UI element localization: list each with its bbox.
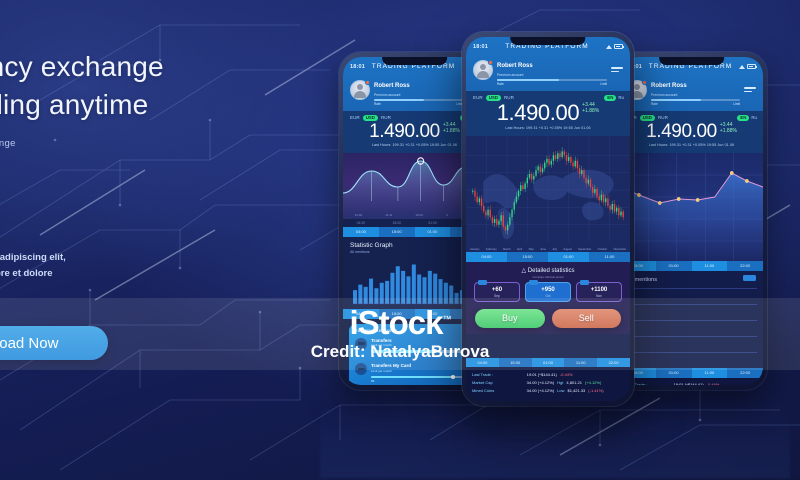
timeline-bar[interactable]: 04:00 15:00 01:00 11:00	[466, 252, 630, 262]
stat-cards: +60 Sep +950 Oct +1100 Nov	[466, 282, 630, 307]
user-row[interactable]: Robert Ross Premium account Rate Limit	[473, 54, 623, 86]
delta-pct: +1.88%	[443, 128, 460, 134]
stat-card[interactable]: +1100 Nov	[576, 282, 622, 302]
stat-card-tag	[478, 280, 487, 285]
timeline-seg-1[interactable]: 01:00	[656, 261, 692, 271]
status-icons	[606, 44, 623, 49]
timeline2-seg-1[interactable]: 15:00	[379, 309, 415, 319]
secondary-heading: I/UX	[0, 181, 238, 210]
user-bar-labels: Rate Limit	[651, 102, 740, 106]
sell-button[interactable]: Sell	[552, 309, 622, 328]
timeline-seg-2[interactable]: 01:00	[548, 252, 589, 262]
headline-subtext: ons for exchange	[0, 138, 238, 149]
user-row[interactable]: Robert Ross Premium account Rate Limit	[627, 74, 756, 106]
hamburger-menu-icon[interactable]	[611, 67, 623, 72]
row-key2: Hgt	[557, 380, 563, 385]
user-name: Robert Ross	[374, 83, 410, 89]
user-info: Robert Ross Premium account Rate Limit	[651, 74, 740, 106]
month-2: March	[503, 248, 510, 251]
price-delta: +3.44 +1.88%	[443, 122, 460, 134]
stat-card[interactable]: +950 Oct	[525, 282, 571, 302]
last-hours-text: Last Hours: 199.31 +0.31 +0.05% 19:55 Ju…	[627, 143, 756, 147]
price-row: 1.490.00 +3.44 +1.88%	[473, 102, 623, 124]
lang-other[interactable]: Ru	[618, 95, 624, 100]
timeline-seg-0[interactable]: 04:00	[466, 252, 507, 262]
list-item[interactable]	[626, 352, 757, 368]
payment-sub: Limit per month	[371, 369, 474, 373]
user-row[interactable]: Robert Ross Premium account Rate Limit	[350, 74, 479, 106]
axis-t1: 15:00	[392, 221, 401, 225]
lower-panel: All mentions	[620, 271, 763, 368]
payment-row[interactable]: Transfers Limit per month 70	[355, 338, 474, 358]
row-change2: (+4.12%)	[585, 380, 601, 385]
payment-name: Transfers My Card	[371, 363, 474, 368]
data-table: Last Trade : 19:01 (^$144.41) -0.44% Mar…	[466, 367, 630, 401]
payment-name: Transfers	[371, 338, 474, 343]
payment-sub: Limit per month	[371, 343, 474, 347]
stat-card-month: Nov	[579, 294, 619, 298]
avatar[interactable]	[350, 80, 370, 100]
month-6: July	[552, 248, 557, 251]
price-row: 1.490.00 +3.44 +1.88%	[350, 122, 479, 141]
stat-card-tag	[529, 280, 538, 285]
user-progress-bar	[374, 99, 463, 101]
headline-line-1: urrency exchange	[0, 48, 238, 86]
timeline-bar-bottom[interactable]: 04:00 15:00 01:00 11:00 22:00	[466, 358, 630, 368]
stat-card-month: Sep	[477, 294, 517, 298]
lorem-line-1: , consectetur adipiscing elit,	[0, 250, 168, 266]
row-value: 19:01 (^$144.41)	[674, 382, 704, 385]
stat-card-value: +1100	[579, 287, 619, 293]
transfer-icon	[355, 338, 367, 350]
phone-reflection	[320, 398, 790, 478]
headline-line-2: , trading anytime	[0, 86, 238, 124]
row-value: 34.00 (+4.12%)	[527, 380, 554, 385]
timeline2-seg-1[interactable]: 15:00	[499, 358, 532, 368]
currency-active[interactable]: USD	[363, 115, 378, 122]
stat-card-value: +60	[477, 287, 517, 293]
month-4: May	[529, 248, 534, 251]
list-item[interactable]	[626, 304, 757, 320]
table-row: Mined Coins 34.00 (+4.12%) Low $1,421.33…	[472, 387, 624, 395]
lang-active[interactable]: EN	[604, 95, 616, 102]
row-value2: 4,801.21	[566, 380, 582, 385]
status-time: 18:01	[473, 44, 488, 50]
data-table: Last Trade : 19:01 (^$144.41) -0.44% Mar…	[620, 378, 763, 385]
axis-t0: 04:00	[357, 221, 366, 225]
axis-t2: 01:00	[428, 221, 437, 225]
transfer-card-icon	[355, 363, 367, 375]
candle-month-labels: January February March April May June Ju…	[466, 248, 630, 251]
month-3: April	[517, 248, 522, 251]
list-item[interactable]	[626, 320, 757, 336]
timeline-bar-bottom[interactable]: 15:00 01:00 11:00 22:00	[620, 368, 763, 378]
user-bar-labels: Rate Limit	[497, 82, 607, 86]
wifi-icon	[606, 45, 612, 49]
phone-center: 18:01 TRADING PLATFORM Robert Ross	[462, 32, 634, 406]
hamburger-menu-icon[interactable]	[744, 87, 756, 92]
payment-slider[interactable]	[371, 350, 474, 352]
timeline-seg-2[interactable]: 01:00	[415, 227, 451, 237]
notch	[382, 57, 448, 65]
timeline-bar[interactable]: 15:00 01:00 11:00 22:00	[620, 261, 763, 271]
currency-to[interactable]: RUR	[658, 115, 668, 120]
user-bar-left-label: Rate	[651, 102, 658, 106]
timeline-seg-3[interactable]: 11:00	[589, 252, 630, 262]
timeline-seg-3[interactable]: 22:00	[727, 261, 763, 271]
payment-value: 70	[371, 354, 474, 358]
timeline-seg-1[interactable]: 15:00	[507, 252, 548, 262]
banner-stage: urrency exchange , trading anytime ons f…	[0, 0, 800, 480]
trend-chart[interactable]	[620, 153, 763, 261]
detailed-statistics-sub: Compare with last period	[466, 275, 630, 279]
trade-actions: Buy Sell	[466, 307, 630, 334]
row-key: Mined Coins	[472, 388, 524, 393]
month-10: November	[614, 248, 626, 251]
user-bar-left-label: Rate	[374, 102, 381, 106]
last-hours-text: Last Hours: 199.31 +0.31 +0.05% 19:55 Ju…	[473, 126, 623, 130]
lang-other[interactable]: Ru	[751, 115, 757, 120]
list-item[interactable]	[626, 336, 757, 352]
language-selector[interactable]: EN Ru	[737, 115, 757, 122]
month-9: October	[598, 248, 608, 251]
app-header: 18:01 TRADING PLATFORM Robert Ross	[466, 37, 630, 91]
row-key: Market Cap	[472, 380, 524, 385]
table-row: Last Trade : 19:01 (^$144.41) -0.44%	[472, 370, 624, 378]
row-change2: (-1.41%)	[588, 388, 603, 393]
secondary-heading-sub: Mobile App	[0, 212, 238, 224]
user-bar-right-label: Limit	[733, 102, 740, 106]
detailed-title-label: Detailed statistics	[528, 268, 575, 274]
avatar[interactable]	[473, 60, 493, 80]
timeline2-seg-1[interactable]: 01:00	[656, 368, 692, 378]
table-row: Market Cap 34.00 (+4.12%) Hgt 4,801.21 (…	[472, 379, 624, 387]
user-meta: Premium account	[497, 73, 607, 77]
month-8: September	[578, 248, 591, 251]
price-delta: +3.44 +1.88%	[720, 122, 737, 134]
currency-from[interactable]: EUR	[350, 115, 360, 120]
user-name: Robert Ross	[651, 83, 687, 89]
user-bar-labels: Rate Limit	[374, 102, 463, 106]
wifi-icon	[739, 65, 745, 69]
detailed-statistics-title[interactable]: △ Detailed statistics Compare with last …	[466, 262, 630, 282]
price-block: EUR USD RUR EN Ru 1.490.00 +3.44 +1.88%	[620, 111, 763, 154]
month-5: June	[540, 248, 546, 251]
timeline2-seg-3[interactable]: 11:00	[564, 358, 597, 368]
app-header: 18:01 TRADING PLATFORM Robert Ross	[620, 57, 763, 111]
timeline2-seg-2[interactable]: 01:00	[532, 358, 565, 368]
notch	[510, 37, 585, 45]
price-value: 1.490.00	[497, 102, 579, 124]
lorem-line-2: didunt ut labore et dolore	[0, 266, 168, 282]
payment-settings-card: PAYMENT SETTINGS Transfers Limit per mon…	[349, 324, 480, 385]
phone-center-bezel: 18:01 TRADING PLATFORM Robert Ross	[466, 37, 630, 401]
phone-right-screen: 18:01 TRADING PLATFORM Robert Ross	[620, 57, 763, 385]
row-key: Last Trade :	[472, 372, 524, 377]
wave-marker-0: 12:02	[355, 213, 363, 217]
price-row: 1.490.00 +3.44 +1.88%	[627, 122, 756, 141]
status-icons	[739, 64, 756, 69]
timeline2-seg-2[interactable]: 01:00	[415, 309, 451, 319]
payment-caption: PAYMENT SETTINGS	[355, 329, 474, 333]
delta-pct: +1.88%	[582, 108, 599, 114]
row-change: -0.44%	[707, 382, 720, 385]
row-value: 19:01 (^$144.41)	[527, 372, 557, 377]
table-row: Last Trade : 19:01 (^$144.41) -0.44%	[626, 381, 757, 385]
notification-dot	[488, 60, 493, 65]
user-progress-bar	[651, 99, 740, 101]
panel-toggle[interactable]	[743, 275, 756, 281]
month-0: January	[470, 248, 480, 251]
timeline-seg-2[interactable]: 11:00	[692, 261, 728, 271]
user-info: Robert Ross Premium account Rate Limit	[497, 54, 607, 86]
expand-caret-icon[interactable]: △	[522, 268, 527, 274]
wave-marker-1: 11:11	[385, 213, 392, 217]
timeline2-seg-2[interactable]: 11:00	[692, 368, 728, 378]
stat-card-tag	[580, 280, 589, 285]
timeline-seg-0[interactable]: 04:00	[343, 227, 379, 237]
stat-card-month: Oct	[528, 294, 568, 298]
price-delta: +3.44 +1.88%	[582, 102, 599, 114]
spacer-panel	[466, 334, 630, 358]
wave-marker-2: 16:02	[416, 213, 424, 217]
language-selector[interactable]: EN Ru	[604, 95, 624, 102]
currency-to[interactable]: RUR	[381, 115, 391, 120]
stat-card[interactable]: +60 Sep	[474, 282, 520, 302]
user-info: Robert Ross Premium account Rate Limit	[374, 74, 463, 106]
last-hours-text: Last Hours: 199.31 +0.31 +0.05% 19:55 Ju…	[350, 143, 479, 147]
battery-icon	[614, 44, 623, 49]
delta-pct: +1.88%	[720, 128, 737, 134]
row-value2: $1,421.33	[567, 388, 585, 393]
timeline2-seg-4[interactable]: 22:00	[597, 358, 630, 368]
notification-dot	[365, 80, 370, 85]
battery-icon	[747, 64, 756, 69]
user-name: Robert Ross	[497, 63, 533, 69]
download-now-button[interactable]: nload Now	[0, 326, 108, 360]
lang-active[interactable]: EN	[737, 115, 749, 122]
timeline2-seg-3[interactable]: 22:00	[727, 368, 763, 378]
currency-active[interactable]: USD	[640, 115, 655, 122]
payment-slider[interactable]	[371, 376, 474, 378]
month-1: February	[486, 248, 497, 251]
user-bar-left-label: Rate	[497, 82, 504, 86]
notch	[659, 57, 725, 65]
row-value: 34.00 (+4.12%)	[527, 388, 554, 393]
list-item[interactable]	[626, 288, 757, 304]
timeline2-seg-0[interactable]: 04:00	[466, 358, 499, 368]
month-7: August	[563, 248, 571, 251]
candlestick-chart[interactable]: January February March April May June Ju…	[466, 136, 630, 252]
user-bar-right-label: Limit	[600, 82, 607, 86]
timeline2-seg-0[interactable]: 04:00	[343, 309, 379, 319]
user-meta: Premium account	[651, 93, 740, 97]
wave-marker-3: 0	[446, 213, 448, 217]
user-meta: Premium account	[374, 93, 463, 97]
marketing-copy: urrency exchange , trading anytime ons f…	[0, 48, 238, 282]
payment-value: 82	[371, 379, 474, 383]
row-key2: Low	[557, 388, 564, 393]
phone-right: 18:01 TRADING PLATFORM Robert Ross	[616, 52, 767, 390]
price-value: 1.490.00	[369, 122, 440, 141]
lower-panel-title: All mentions	[620, 277, 763, 288]
payment-row[interactable]: Transfers My Card Limit per month 82	[355, 363, 474, 383]
price-block: EUR USD RUR EN Ru 1.490.00 +3.44 +1.88%	[466, 91, 630, 137]
price-value: 1.490.00	[646, 122, 717, 141]
user-progress-bar	[497, 79, 607, 81]
row-change: -0.44%	[560, 372, 573, 377]
phone-center-screen: 18:01 TRADING PLATFORM Robert Ross	[466, 37, 630, 401]
phone-right-bezel: 18:01 TRADING PLATFORM Robert Ross	[620, 57, 763, 385]
stat-card-value: +950	[528, 287, 568, 293]
buy-button[interactable]: Buy	[475, 309, 545, 328]
status-time: 18:01	[350, 64, 365, 70]
timeline-seg-1[interactable]: 15:00	[379, 227, 415, 237]
detailed-statistics-section: △ Detailed statistics Compare with last …	[466, 262, 630, 334]
currency-from[interactable]: EUR	[473, 95, 483, 100]
